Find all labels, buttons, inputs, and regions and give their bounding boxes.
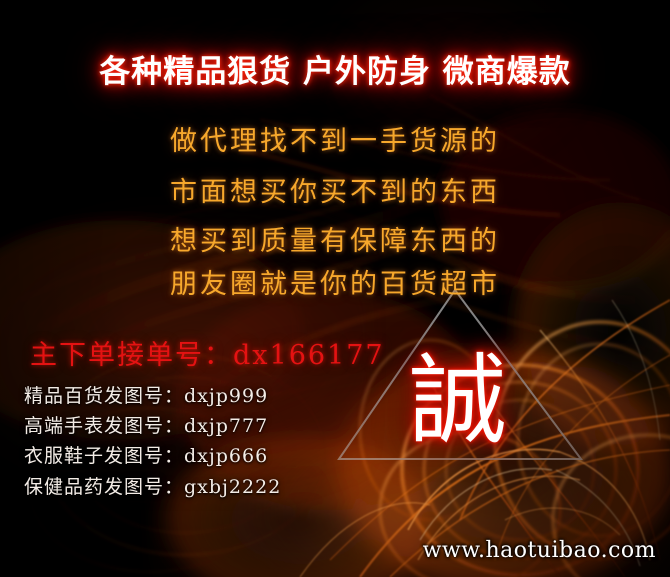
integrity-seal-character: 誠 <box>393 352 523 450</box>
verse-line-4: 朋友圈就是你的百货超市 <box>0 262 670 301</box>
poster-content: 各种精品狠货 户外防身 微商爆款 做代理找不到一手货源的 市面想买你买不到的东西… <box>0 0 670 577</box>
verse-line-2: 市面想买你买不到的东西 <box>0 170 670 209</box>
verse-line-1: 做代理找不到一手货源的 <box>0 119 670 158</box>
contact-line-clothing-shoes: 衣服鞋子发图号：dxjp666 <box>24 441 268 468</box>
page-title: 各种精品狠货 户外防身 微商爆款 <box>0 46 670 91</box>
verse-line-3: 想买到质量有保障东西的 <box>0 219 670 258</box>
site-watermark: www.haotuibao.com <box>423 538 656 563</box>
contact-line-general-goods: 精品百货发图号：dxjp999 <box>24 381 268 408</box>
contact-line-health-products: 保健品药发图号：gxbj2222 <box>24 472 281 499</box>
contact-line-watches: 高端手表发图号：dxjp777 <box>24 411 268 438</box>
main-order-contact-line: 主下单接单号：dx166177 <box>30 333 385 372</box>
promo-poster: 各种精品狠货 户外防身 微商爆款 做代理找不到一手货源的 市面想买你买不到的东西… <box>0 0 670 577</box>
